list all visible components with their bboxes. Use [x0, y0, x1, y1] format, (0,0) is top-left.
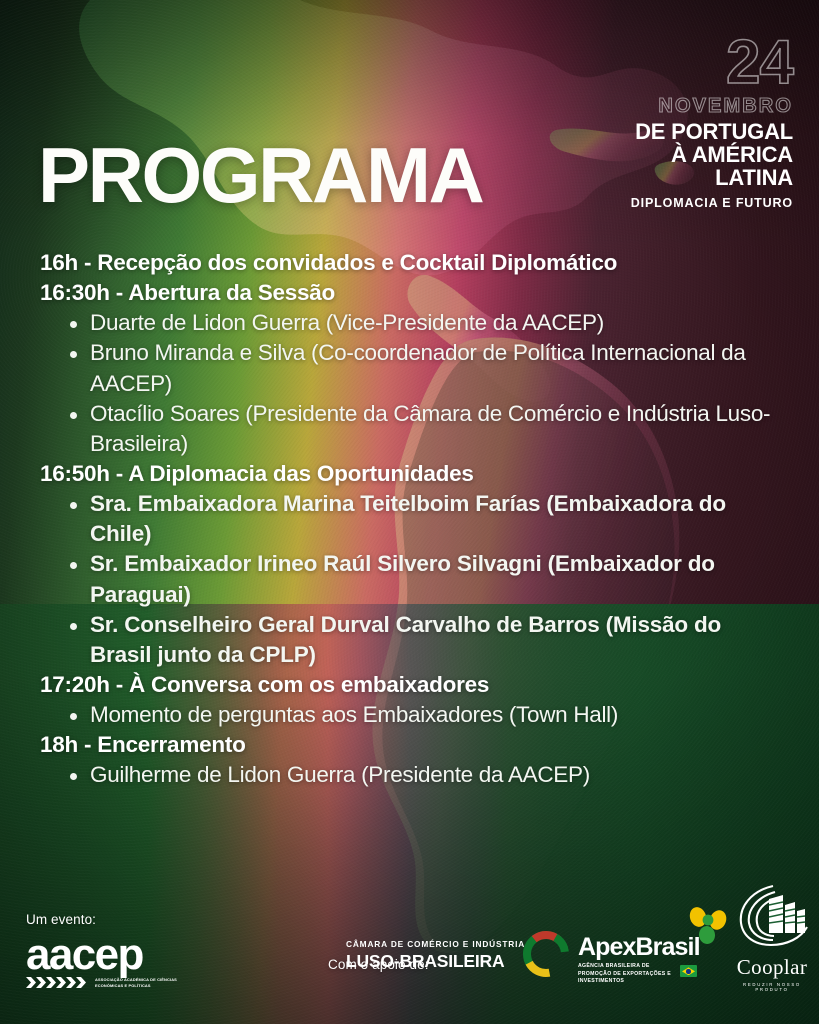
- aacep-xpattern-icon: [26, 977, 88, 988]
- cooplar-emblem-icon: [733, 881, 811, 949]
- ccib-logo: CÂMARA DE COMÉRCIO E INDÚSTRIA LUSO-BRAS…: [346, 939, 525, 972]
- cooplar-tagline: REDUZIR NOSSO PRODUTO: [726, 982, 818, 992]
- program-section: 16:30h - Abertura da Sessão Duarte de Li…: [40, 278, 782, 459]
- event-subtitle: DIPLOMACIA E FUTURO: [593, 196, 793, 210]
- apexbrasil-logo: ApexBrasil AGÊNCIA BRASILEIRA DE PROMOÇÃ…: [578, 935, 718, 986]
- footer: Um evento: aacep ASSOCIAÇÃO ACADÉMICA DE…: [0, 892, 819, 1010]
- event-title-line1: DE PORTUGAL: [593, 121, 793, 144]
- list-item: Guilherme de Lidon Guerra (Presidente da…: [62, 760, 782, 790]
- aacep-logo-footer: ASSOCIAÇÃO ACADÉMICA DE CIÊNCIAS ECONÓMI…: [26, 977, 236, 988]
- cooplar-logo: Cooplar REDUZIR NOSSO PRODUTO: [726, 881, 818, 992]
- program-section: 16:50h - A Diplomacia das Oportunidades …: [40, 459, 782, 670]
- list-item: Sr. Embaixador Irineo Raúl Silvero Silva…: [62, 549, 782, 609]
- program-section: 18h - Encerramento Guilherme de Lidon Gu…: [40, 730, 782, 790]
- event-title-line2: À AMÉRICA LATINA: [593, 144, 793, 190]
- support-block: Com o apoio de: CÂMARA DE COMÉRCIO E IND…: [328, 957, 578, 988]
- apexbrasil-dots-icon: [686, 907, 730, 947]
- program-section: 16h - Recepção dos convidados e Cocktail…: [40, 248, 782, 278]
- organizer-block: Um evento: aacep ASSOCIAÇÃO ACADÉMICA DE…: [26, 912, 236, 988]
- program-section: 17:20h - À Conversa com os embaixadores …: [40, 670, 782, 730]
- session-speaker-list: Momento de perguntas aos Embaixadores (T…: [40, 700, 782, 730]
- list-item: Sra. Embaixadora Marina Teitelboim Faría…: [62, 489, 782, 549]
- list-item: Duarte de Lidon Guerra (Vice-Presidente …: [62, 308, 782, 338]
- session-heading: 17:20h - À Conversa com os embaixadores: [40, 670, 782, 700]
- list-item: Sr. Conselheiro Geral Durval Carvalho de…: [62, 610, 782, 670]
- event-date-badge: 24 NOVEMBRO DE PORTUGAL À AMÉRICA LATINA…: [593, 34, 793, 210]
- session-heading: 16:50h - A Diplomacia das Oportunidades: [40, 459, 782, 489]
- list-item: Momento de perguntas aos Embaixadores (T…: [62, 700, 782, 730]
- session-heading: 16h - Recepção dos convidados e Cocktail…: [40, 248, 782, 278]
- apexbrasil-tagline-row: AGÊNCIA BRASILEIRA DE PROMOÇÃO DE EXPORT…: [578, 963, 718, 986]
- list-item: Otacílio Soares (Presidente da Câmara de…: [62, 399, 782, 459]
- aacep-logo-tagline: ASSOCIAÇÃO ACADÉMICA DE CIÊNCIAS ECONÓMI…: [95, 977, 199, 988]
- ccib-logo-wordmark: LUSO-BRASILEIRA: [346, 951, 525, 972]
- organizer-label: Um evento:: [26, 912, 236, 927]
- apexbrasil-tagline: AGÊNCIA BRASILEIRA DE PROMOÇÃO DE EXPORT…: [578, 963, 674, 986]
- page-title: PROGRAMA: [38, 136, 482, 214]
- cooplar-wordmark: Cooplar: [726, 955, 818, 980]
- event-day-number: 24: [593, 34, 793, 91]
- session-speaker-list: Guilherme de Lidon Guerra (Presidente da…: [40, 760, 782, 790]
- session-heading: 18h - Encerramento: [40, 730, 782, 760]
- brazil-flag-icon: [680, 965, 697, 977]
- list-item: Bruno Miranda e Silva (Co-coordenador de…: [62, 338, 782, 398]
- event-month-label: NOVEMBRO: [593, 95, 793, 118]
- program-schedule: 16h - Recepção dos convidados e Cocktail…: [40, 248, 782, 791]
- session-speaker-list: Sra. Embaixadora Marina Teitelboim Faría…: [40, 489, 782, 670]
- program-poster: 24 NOVEMBRO DE PORTUGAL À AMÉRICA LATINA…: [0, 0, 819, 1024]
- ccib-logo-toptext: CÂMARA DE COMÉRCIO E INDÚSTRIA: [346, 939, 525, 949]
- aacep-logo-wordmark: aacep: [26, 937, 236, 974]
- session-heading: 16:30h - Abertura da Sessão: [40, 278, 782, 308]
- session-speaker-list: Duarte de Lidon Guerra (Vice-Presidente …: [40, 308, 782, 459]
- ccib-ring-icon: [518, 926, 574, 982]
